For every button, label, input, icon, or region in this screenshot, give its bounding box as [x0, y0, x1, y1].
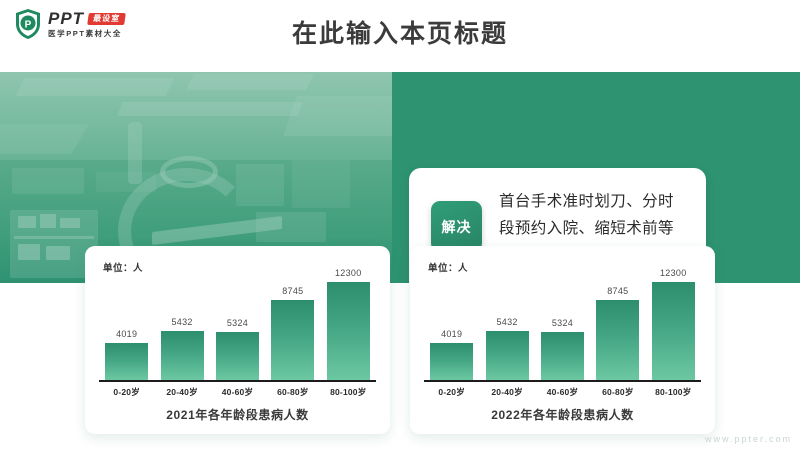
x-tick: 60-80岁 — [595, 386, 641, 398]
bar-value-label: 12300 — [335, 268, 362, 278]
bar-rect — [541, 332, 584, 380]
bar-rect — [216, 332, 259, 380]
bar-item: 12300 — [325, 268, 371, 380]
x-tick: 80-100岁 — [650, 386, 696, 398]
bar-rect — [596, 300, 639, 380]
bar-item: 5432 — [484, 268, 530, 380]
bar-item: 4019 — [104, 268, 150, 380]
bar-series: 4019 5432 5324 8745 12300 — [99, 268, 376, 380]
bar-value-label: 5432 — [496, 317, 517, 327]
bar-value-label: 5324 — [227, 318, 248, 328]
chart-x-axis — [424, 380, 701, 382]
x-tick: 0-20岁 — [104, 386, 150, 398]
chart-card-2021: 单位：人 4019 5432 5324 8745 12300 — [85, 246, 390, 434]
x-tick: 40-60岁 — [539, 386, 585, 398]
bar-rect — [486, 331, 529, 380]
bar-item: 5432 — [159, 268, 205, 380]
bar-value-label: 4019 — [441, 329, 462, 339]
page-title: 在此输入本页标题 — [0, 14, 800, 50]
x-tick: 20-40岁 — [159, 386, 205, 398]
bar-item: 8745 — [595, 268, 641, 380]
chart-title: 2022年各年龄段患病人数 — [410, 406, 715, 423]
bar-rect — [652, 282, 695, 380]
chart-x-axis — [99, 380, 376, 382]
bar-item: 8745 — [270, 268, 316, 380]
bar-value-label: 5432 — [171, 317, 192, 327]
x-tick: 80-100岁 — [325, 386, 371, 398]
x-tick: 60-80岁 — [270, 386, 316, 398]
bar-rect — [327, 282, 370, 380]
chart-plot-area: 4019 5432 5324 8745 12300 — [99, 268, 376, 380]
page-header: P PPT 最设室 医学PPT素材大全 在此输入本页标题 — [0, 0, 800, 72]
bar-value-label: 4019 — [116, 329, 137, 339]
solution-badge: 解决 — [431, 201, 482, 252]
bar-item: 4019 — [429, 268, 475, 380]
x-tick: 20-40岁 — [484, 386, 530, 398]
chart-card-2022: 单位：人 4019 5432 5324 8745 12300 — [410, 246, 715, 434]
bar-rect — [161, 331, 204, 380]
chart-title: 2021年各年龄段患病人数 — [85, 406, 390, 423]
bar-value-label: 5324 — [552, 318, 573, 328]
bar-item: 5324 — [214, 268, 260, 380]
bar-rect — [105, 343, 148, 380]
x-tick: 40-60岁 — [214, 386, 260, 398]
site-watermark: www.ppter.com — [705, 434, 792, 444]
chart-x-tick-labels: 0-20岁 20-40岁 40-60岁 60-80岁 80-100岁 — [99, 386, 376, 398]
bar-item: 12300 — [650, 268, 696, 380]
bar-value-label: 8745 — [607, 286, 628, 296]
bar-value-label: 8745 — [282, 286, 303, 296]
bar-series: 4019 5432 5324 8745 12300 — [424, 268, 701, 380]
bar-value-label: 12300 — [660, 268, 687, 278]
bar-rect — [271, 300, 314, 380]
x-tick: 0-20岁 — [429, 386, 475, 398]
chart-x-tick-labels: 0-20岁 20-40岁 40-60岁 60-80岁 80-100岁 — [424, 386, 701, 398]
bar-rect — [430, 343, 473, 380]
chart-plot-area: 4019 5432 5324 8745 12300 — [424, 268, 701, 380]
bar-item: 5324 — [539, 268, 585, 380]
